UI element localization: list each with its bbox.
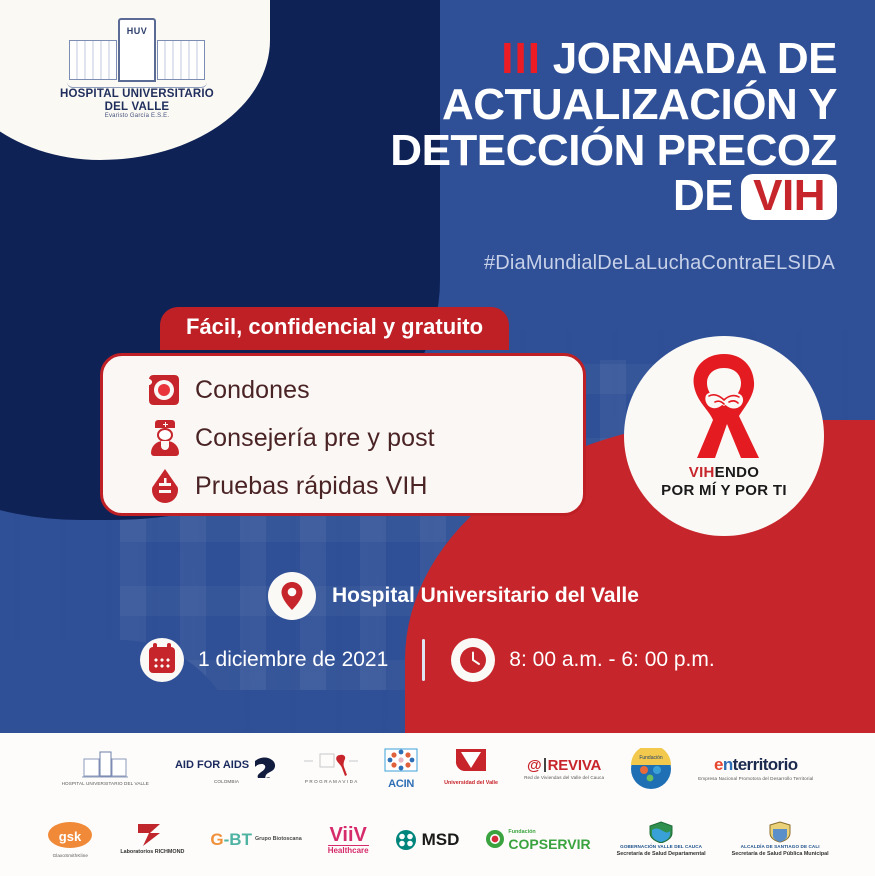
gsk-mark: gsk: [46, 820, 94, 852]
campaign-hashtag: #DiaMundialDeLaLuchaContraELSIDA: [315, 252, 835, 275]
sponsor-caption: Secretaría de Salud Pública Municipal: [732, 851, 829, 858]
sponsor-logo-gsk: gsk GlaxoSmithKline: [46, 820, 94, 859]
hospital-logo: HUV HOSPITAL UNIVERSITARIO DEL VALLE Eva…: [42, 18, 232, 138]
venue-name: Hospital Universitario del Valle: [332, 584, 639, 608]
hospital-logo-line1: HOSPITAL UNIVERSITARIO: [42, 88, 232, 101]
title-line-4-prefix: DE: [673, 171, 733, 220]
copservir-mark-icon: [485, 829, 505, 849]
svg-text:gsk: gsk: [59, 829, 82, 844]
gobernacion-shield-icon: [648, 821, 674, 843]
hospital-logo-line3: Evaristo García E.S.E.: [42, 113, 232, 119]
fundacion-circle-mark: Fundación: [630, 748, 672, 790]
service-label: Pruebas rápidas VIH: [195, 472, 428, 501]
ribbon-badge-line2: POR MÍ Y POR TI: [661, 482, 787, 499]
sponsor-name: REVIVA: [548, 757, 602, 774]
services-card-header: Fácil, confidencial y gratuito: [160, 307, 509, 350]
ribbon-badge-vih: VIH: [689, 464, 715, 481]
sponsor-row-2: gsk GlaxoSmithKline Laboratorios RICHMON…: [0, 804, 875, 875]
msd-mark-icon: [395, 829, 417, 851]
sponsor-caption: Laboratorios RICHMOND: [120, 849, 184, 856]
sponsor-caption: Grupo Biotoscana: [255, 836, 302, 843]
hospital-building-icon: [82, 750, 128, 780]
service-label: Consejería pre y post: [195, 424, 435, 453]
sponsor-logo-viiv: ViiV Healthcare: [328, 825, 369, 855]
divider: [422, 639, 425, 681]
poster-root: HUV HOSPITAL UNIVERSITARIO DEL VALLE Eva…: [0, 0, 875, 876]
sponsor-logo-programa-vida: P R O G R A M A V I D A: [304, 752, 358, 785]
sponsor-row-1: HOSPITAL UNIVERSITARIO DEL VALLE AID FOR…: [0, 733, 875, 804]
sponsor-caption: HOSPITAL UNIVERSITARIO DEL VALLE: [62, 781, 149, 787]
title-numeral: III: [501, 34, 541, 83]
sponsor-caption: GlaxoSmithKline: [53, 853, 88, 859]
service-item: Pruebas rápidas VIH: [103, 462, 583, 510]
title-line-1-text: JORNADA DE: [553, 34, 837, 83]
hospital-building-icon: HUV: [67, 18, 207, 84]
sponsor-name: ALCALDÍA DE SANTIAGO DE CALI: [741, 844, 820, 850]
sponsor-logo-huv: HOSPITAL UNIVERSITARIO DEL VALLE: [62, 750, 149, 787]
sponsor-name: G-BT: [210, 830, 252, 850]
sponsor-caption: Empresa Nacional Promotora del Desarroll…: [698, 776, 813, 782]
date-time-row: 1 diciembre de 2021 8: 00 a.m. - 6: 00 p…: [140, 638, 715, 682]
univalle-mark: [454, 749, 488, 779]
sponsor-name: MSD: [422, 830, 460, 850]
sponsor-footer: HOSPITAL UNIVERSITARIO DEL VALLE AID FOR…: [0, 733, 875, 876]
condom-icon: [147, 371, 181, 409]
dove-icon: [252, 752, 278, 778]
sponsor-logo-richmond: Laboratorios RICHMOND: [120, 822, 184, 856]
sponsor-logo-msd: MSD: [395, 829, 460, 851]
service-label: Condones: [195, 376, 310, 405]
location-pin-icon: [268, 572, 316, 620]
venue-row: Hospital Universitario del Valle: [268, 572, 639, 620]
sponsor-caption: Universidad del Valle: [444, 780, 498, 787]
sponsor-logo-univalle: Universidad del Valle: [444, 749, 498, 787]
hospital-logo-line2: DEL VALLE: [42, 101, 232, 113]
alcaldia-shield-icon: [768, 821, 792, 843]
awareness-ribbon-handshake-icon: [663, 350, 785, 468]
sponsor-logo-fundacion: Fundación: [630, 748, 672, 790]
programa-vida-mark: [304, 752, 358, 778]
richmond-mark: [135, 822, 169, 848]
sponsor-logo-acin: ACIN: [384, 748, 418, 790]
huv-mark-label: HUV: [120, 26, 154, 36]
sponsor-logo-alcaldia-cali: ALCALDÍA DE SANTIAGO DE CALI Secretaría …: [732, 821, 829, 858]
ribbon-badge-endo: ENDO: [715, 464, 760, 481]
vih-badge: VIH: [741, 174, 837, 220]
sponsor-logo-copservir: Fundación COPSERVIR: [485, 828, 590, 850]
sponsor-logo-aid-for-aids: AID FOR AIDS COLOMBIA: [175, 752, 278, 785]
sponsor-caption: Secretaría de Salud Departamental: [617, 851, 706, 858]
sponsor-logo-gobernacion-valle: GOBERNACIÓN VALLE DEL CAUCA Secretaría d…: [617, 821, 706, 858]
poster-title: III JORNADA DE ACTUALIZACIÓN Y DETECCIÓN…: [317, 36, 837, 220]
service-item: Consejería pre y post: [103, 414, 583, 462]
sponsor-name: AID FOR AIDS: [175, 760, 249, 770]
sponsor-name: enterritorio: [714, 755, 798, 775]
sponsor-caption: Healthcare: [328, 845, 369, 855]
ribbon-badge: VIHENDO POR MÍ Y POR TI: [624, 336, 824, 536]
sponsor-logo-enterritorio: enterritorio Empresa Nacional Promotora …: [698, 755, 813, 782]
clock-icon: [451, 638, 495, 682]
sponsor-name: ViiV: [329, 825, 366, 845]
ribbon-badge-line1: VIHENDO: [689, 464, 759, 481]
title-line-4: DEVIH: [317, 173, 837, 220]
sponsor-caption: Red de Viviendas del Valle del Cauca: [524, 775, 604, 781]
title-line-1: III JORNADA DE: [317, 36, 837, 82]
event-time: 8: 00 a.m. - 6: 00 p.m.: [509, 648, 714, 672]
services-card-body: Condones Consejería pre y post Pruebas r…: [100, 353, 586, 516]
title-line-3: DETECCIÓN PRECOZ: [317, 128, 837, 174]
sponsor-logo-gbt: G-BT Grupo Biotoscana: [210, 830, 301, 850]
nurse-icon: [147, 419, 181, 457]
calendar-icon: [140, 638, 184, 682]
service-item: Condones: [103, 366, 583, 414]
sponsor-logo-reviva: @ REVIVA Red de Viviendas del Valle del …: [524, 757, 604, 781]
at-symbol-icon: @: [527, 757, 542, 774]
event-date: 1 diciembre de 2021: [198, 648, 388, 672]
title-line-2: ACTUALIZACIÓN Y: [317, 82, 837, 128]
sponsor-caption: P R O G R A M A V I D A: [305, 779, 358, 785]
acin-mark: [384, 748, 418, 778]
svg-text:Fundación: Fundación: [639, 755, 663, 761]
sponsor-name: GOBERNACIÓN VALLE DEL CAUCA: [620, 844, 702, 850]
sponsor-name: ACIN: [388, 778, 414, 790]
sponsor-name: COPSERVIR: [508, 837, 590, 851]
sponsor-caption: COLOMBIA: [214, 779, 239, 785]
blood-drop-test-icon: [147, 467, 181, 505]
